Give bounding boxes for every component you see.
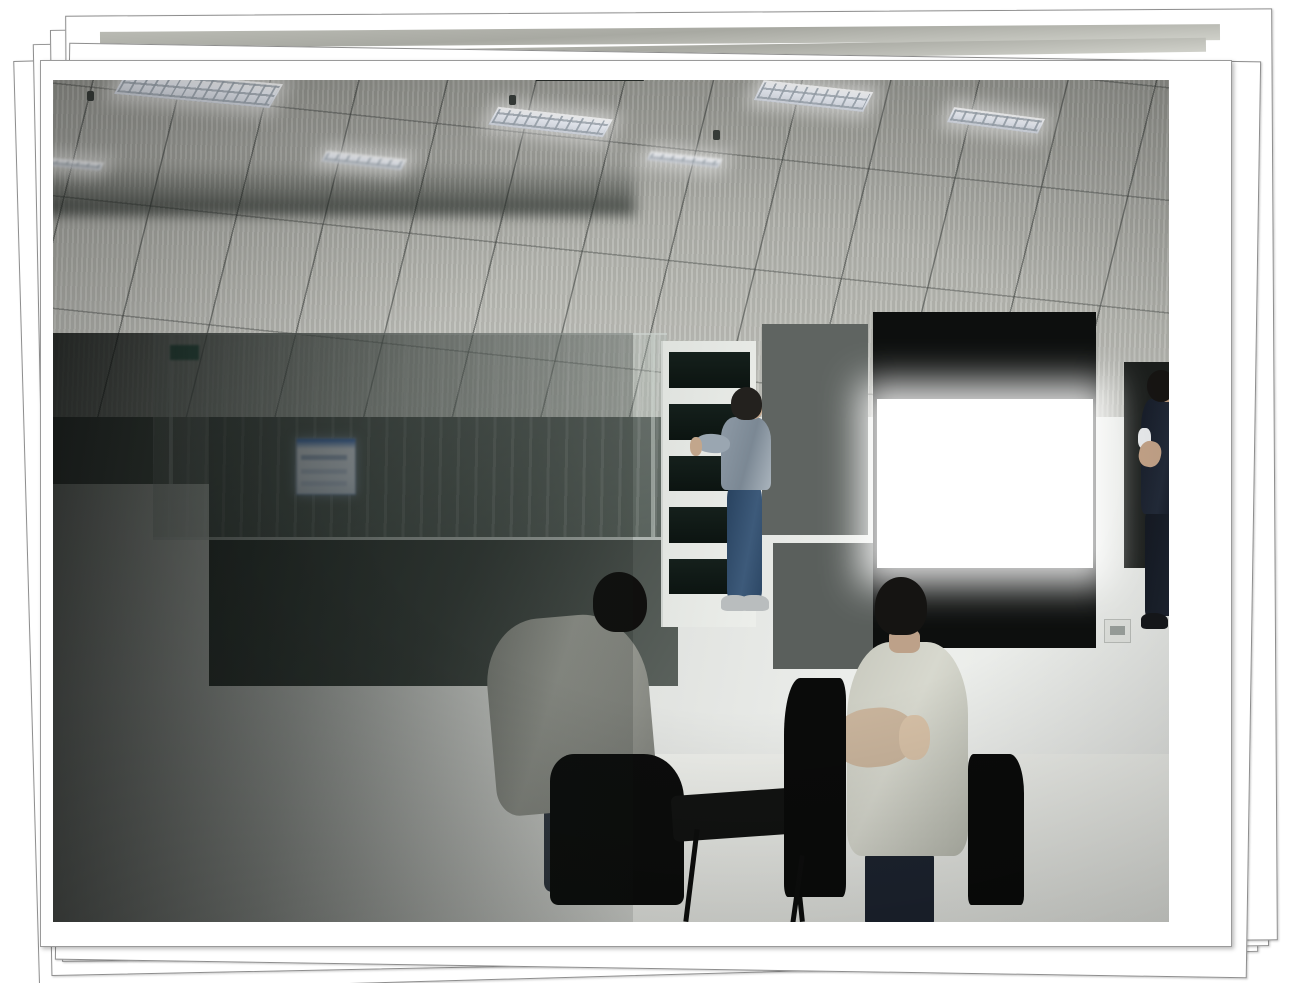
computer-monitor bbox=[296, 438, 356, 495]
presenter-jeans bbox=[727, 486, 763, 599]
attendee-right-hand bbox=[899, 715, 930, 760]
standing-observer bbox=[1138, 370, 1169, 631]
folding-chair-right-back bbox=[784, 678, 846, 897]
ceiling-shadow-band bbox=[53, 162, 635, 215]
attendee-right-head bbox=[875, 577, 927, 636]
sprinkler-head-icon bbox=[713, 130, 720, 140]
attendee-right-jeans bbox=[865, 853, 934, 922]
observer-shoe bbox=[1141, 613, 1168, 629]
presenter bbox=[717, 387, 778, 623]
observer-trousers bbox=[1145, 511, 1169, 615]
presenter-hand bbox=[690, 437, 702, 456]
presenter-shoe bbox=[740, 595, 768, 612]
photo-stack-canvas bbox=[0, 0, 1302, 983]
glass-mullion bbox=[169, 335, 173, 537]
projection-screen bbox=[877, 399, 1093, 567]
presenter-head bbox=[731, 387, 763, 420]
green-sign bbox=[170, 345, 199, 360]
folding-chair-front bbox=[550, 754, 684, 906]
sprinkler-head-icon bbox=[509, 95, 516, 105]
folding-chair-right-side bbox=[968, 754, 1024, 906]
attendee-center-head bbox=[593, 572, 647, 633]
main-photo-card[interactable] bbox=[40, 60, 1232, 947]
door-slat bbox=[669, 352, 751, 388]
sprinkler-head-icon bbox=[87, 91, 94, 101]
ceiling-beam bbox=[535, 80, 650, 81]
wall-outlet bbox=[1104, 619, 1131, 643]
glass-reflection bbox=[153, 335, 666, 537]
observer-head bbox=[1147, 370, 1169, 401]
photograph bbox=[53, 80, 1169, 922]
glass-mullion bbox=[651, 335, 655, 537]
glass-partition bbox=[153, 333, 666, 540]
presenter-shirt bbox=[721, 417, 771, 490]
